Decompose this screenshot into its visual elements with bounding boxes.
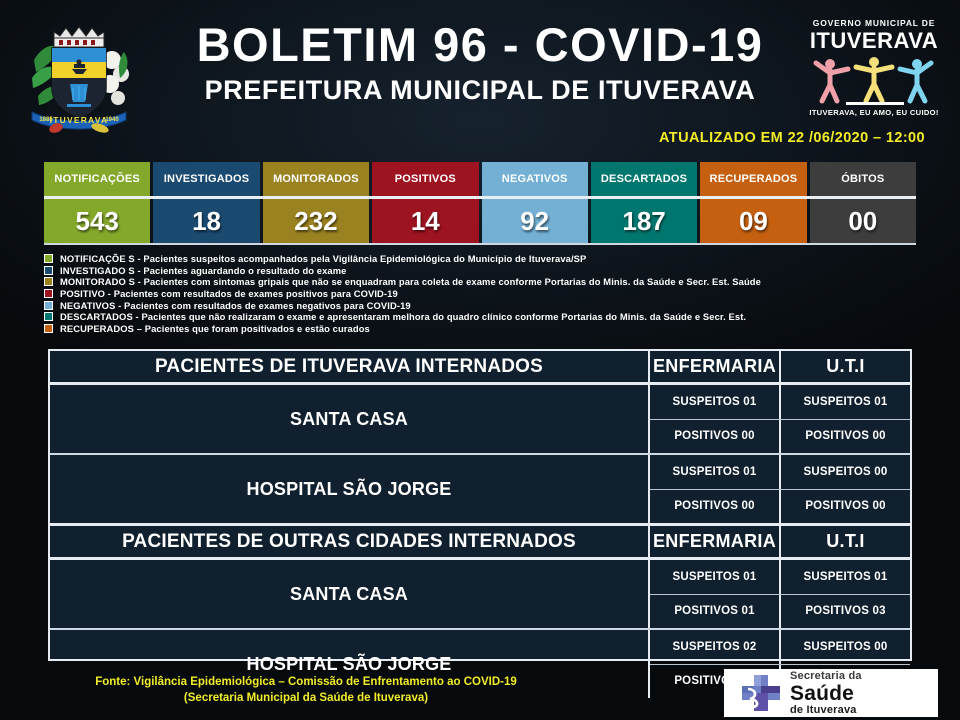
stat-header-4: NEGATIVOS	[482, 162, 588, 196]
title-block: BOLETIM 96 - COVID-19 PREFEITURA MUNICIP…	[150, 18, 810, 106]
cell-enfermaria: POSITIVOS 01	[650, 595, 781, 629]
cell-enfermaria: POSITIVOS 00	[650, 490, 781, 524]
legend-term: POSITIVO	[60, 288, 105, 299]
cell-uti: POSITIVOS 00	[781, 420, 910, 454]
col-header-enfermaria: ENFERMARIA	[650, 351, 781, 382]
statistics-header-row: NOTIFICAÇÕESINVESTIGADOSMONITORADOSPOSIT…	[44, 162, 916, 196]
stat-value-3: 14	[372, 199, 478, 243]
col-header-enfermaria: ENFERMARIA	[650, 526, 781, 557]
legend-term: NEGATIVOS	[60, 300, 115, 311]
legend-swatch-icon	[44, 324, 53, 333]
stat-value-number: 543	[75, 206, 118, 237]
hospital-subrow: POSITIVOS 01POSITIVOS 03	[650, 595, 910, 629]
gov-logo-line2: ITUVERAVA	[804, 29, 944, 53]
statistics-panel: NOTIFICAÇÕESINVESTIGADOSMONITORADOSPOSIT…	[44, 162, 916, 243]
hospital-subrow: SUSPEITOS 01SUSPEITOS 00	[650, 455, 910, 490]
legend-description: - Pacientes com resultados de exames neg…	[115, 300, 410, 311]
stat-header-label: RECUPERADOS	[710, 173, 798, 185]
stat-header-label: INVESTIGADOS	[164, 173, 250, 185]
legend-swatch-icon	[44, 277, 53, 286]
hospital-name: SANTA CASA	[290, 584, 408, 605]
section-title: PACIENTES DE OUTRAS CIDADES INTERNADOS	[122, 531, 576, 553]
cell-uti: POSITIVOS 03	[781, 595, 910, 629]
stat-header-5: DESCARTADOS	[591, 162, 697, 196]
col-header-uti: U.T.I	[781, 351, 910, 382]
source-note: Fonte: Vigilância Epidemiológica – Comis…	[46, 674, 566, 706]
stat-value-number: 232	[294, 206, 337, 237]
cell-enfermaria: SUSPEITOS 01	[650, 455, 781, 489]
col-header-uti-label: U.T.I	[826, 531, 865, 552]
stat-value-number: 18	[192, 206, 221, 237]
legend-description: - Pacientes com sintomas gripais que não…	[135, 276, 761, 287]
stat-header-label: NEGATIVOS	[502, 173, 568, 185]
stat-value-6: 09	[700, 199, 806, 243]
statistics-bottom-rule	[44, 243, 916, 245]
saude-logo-line3: de Ituverava	[790, 705, 862, 716]
legend-text: POSITIVO - Pacientes com resultados de e…	[60, 288, 398, 299]
legend-text: NEGATIVOS - Pacientes com resultados de …	[60, 300, 411, 311]
stat-value-0: 543	[44, 199, 150, 243]
stat-value-number: 14	[411, 206, 440, 237]
stat-value-4: 92	[482, 199, 588, 243]
legend-text: RECUPERADOS – Pacientes que foram positi…	[60, 323, 370, 334]
stat-header-label: NOTIFICAÇÕES	[54, 173, 140, 185]
legend-swatch-icon	[44, 301, 53, 310]
table-row: HOSPITAL SÃO JORGESUSPEITOS 01SUSPEITOS …	[50, 455, 910, 526]
hospital-name-cell: SANTA CASA	[50, 385, 650, 453]
stat-value-number: 187	[622, 206, 665, 237]
stat-header-2: MONITORADOS	[263, 162, 369, 196]
col-header-uti-label: U.T.I	[826, 356, 865, 377]
header: ITUVERAVA 1885 1940 BOLETIM 96 - COVID-1…	[0, 0, 960, 152]
legend-description: – Pacientes que foram positivados e estã…	[134, 323, 370, 334]
legend-text: DESCARTADOS - Pacientes que não realizar…	[60, 311, 746, 322]
hospital-name: SANTA CASA	[290, 409, 408, 430]
legend-item: DESCARTADOS - Pacientes que não realizar…	[44, 311, 944, 323]
hospital-subrow: SUSPEITOS 02SUSPEITOS 00	[650, 630, 910, 665]
legend-item: NEGATIVOS - Pacientes com resultados de …	[44, 299, 944, 311]
hospital-name-cell: HOSPITAL SÃO JORGE	[50, 455, 650, 523]
legend-item: MONITORADO S - Pacientes com sintomas gr…	[44, 276, 944, 288]
cell-uti: SUSPEITOS 01	[781, 560, 910, 594]
government-logo: GOVERNO MUNICIPAL DE ITUVERAVA	[804, 18, 944, 124]
stat-header-3: POSITIVOS	[372, 162, 478, 196]
stat-value-2: 232	[263, 199, 369, 243]
cell-uti: SUSPEITOS 01	[781, 385, 910, 419]
col-header-uti: U.T.I	[781, 526, 910, 557]
legend-term: INVESTIGADO S	[60, 265, 135, 276]
stat-header-0: NOTIFICAÇÕES	[44, 162, 150, 196]
hospital-table: PACIENTES DE ITUVERAVA INTERNADOSENFERMA…	[48, 349, 912, 661]
cell-enfermaria: SUSPEITOS 01	[650, 560, 781, 594]
hospital-name-cell: SANTA CASA	[50, 560, 650, 628]
stat-header-label: DESCARTADOS	[601, 173, 687, 185]
saude-logo: Secretaria da Saúde de Ituverava	[724, 669, 938, 717]
stat-header-7: ÓBITOS	[810, 162, 916, 196]
stat-header-label: ÓBITOS	[841, 173, 884, 185]
legend-item: POSITIVO - Pacientes com resultados de e…	[44, 288, 944, 300]
col-header-enfermaria-label: ENFERMARIA	[653, 531, 776, 552]
cell-enfermaria: SUSPEITOS 01	[650, 385, 781, 419]
saude-logo-line1: Secretaria da	[790, 671, 862, 682]
legend: NOTIFICAÇÕE S - Pacientes suspeitos acom…	[44, 253, 944, 334]
stat-value-number: 09	[739, 206, 768, 237]
legend-description: - Pacientes com resultados de exames pos…	[105, 288, 398, 299]
legend-swatch-icon	[44, 312, 53, 321]
source-note-line2: (Secretaria Municipal da Saúde de Ituver…	[46, 690, 566, 706]
covid-bulletin-page: ITUVERAVA 1885 1940 BOLETIM 96 - COVID-1…	[0, 0, 960, 720]
coat-of-arms-icon: ITUVERAVA 1885 1940	[20, 16, 138, 138]
legend-description: - Pacientes suspeitos acompanhados pela …	[135, 253, 587, 264]
table-section-header: PACIENTES DE ITUVERAVA INTERNADOSENFERMA…	[50, 351, 910, 385]
table-section-header: PACIENTES DE OUTRAS CIDADES INTERNADOSEN…	[50, 526, 910, 560]
legend-term: MONITORADO S	[60, 276, 135, 287]
saude-logo-text: Secretaria da Saúde de Ituverava	[790, 671, 862, 716]
hospital-subrow: POSITIVOS 00POSITIVOS 00	[650, 490, 910, 524]
hospital-subrow: POSITIVOS 00POSITIVOS 00	[650, 420, 910, 454]
cell-enfermaria: POSITIVOS 00	[650, 420, 781, 454]
section-title-cell: PACIENTES DE OUTRAS CIDADES INTERNADOS	[50, 526, 650, 557]
table-row: SANTA CASASUSPEITOS 01SUSPEITOS 01POSITI…	[50, 385, 910, 455]
stat-value-number: 92	[520, 206, 549, 237]
legend-text: NOTIFICAÇÕE S - Pacientes suspeitos acom…	[60, 253, 586, 264]
hospital-values: SUSPEITOS 01SUSPEITOS 00POSITIVOS 00POSI…	[650, 455, 910, 523]
gov-logo-slogan: ITUVERAVA, EU AMO, EU CUIDO!	[804, 108, 944, 118]
stat-value-7: 00	[810, 199, 916, 243]
hospital-name: HOSPITAL SÃO JORGE	[247, 479, 452, 500]
table-row: SANTA CASASUSPEITOS 01SUSPEITOS 01POSITI…	[50, 560, 910, 630]
legend-term: RECUPERADOS	[60, 323, 134, 334]
cell-uti: SUSPEITOS 00	[781, 630, 910, 664]
page-subtitle: PREFEITURA MUNICIPAL DE ITUVERAVA	[150, 74, 810, 106]
source-note-line1: Fonte: Vigilância Epidemiológica – Comis…	[46, 674, 566, 690]
statistics-value-row: 5431823214921870900	[44, 199, 916, 243]
legend-item: RECUPERADOS – Pacientes que foram positi…	[44, 323, 944, 335]
hospital-subrow: SUSPEITOS 01SUSPEITOS 01	[650, 385, 910, 420]
legend-term: DESCARTADOS	[60, 311, 133, 322]
section-title-cell: PACIENTES DE ITUVERAVA INTERNADOS	[50, 351, 650, 382]
stat-value-1: 18	[153, 199, 259, 243]
hospital-subrow: SUSPEITOS 01SUSPEITOS 01	[650, 560, 910, 595]
health-cross-icon	[740, 673, 782, 713]
cell-uti: SUSPEITOS 00	[781, 455, 910, 489]
stat-value-number: 00	[848, 206, 877, 237]
legend-swatch-icon	[44, 254, 53, 263]
cell-uti: POSITIVOS 00	[781, 490, 910, 524]
stat-header-label: POSITIVOS	[395, 173, 456, 185]
svg-text:1940: 1940	[105, 117, 119, 123]
legend-description: - Pacientes aguardando o resultado do ex…	[135, 265, 347, 276]
updated-timestamp: ATUALIZADO EM 22 /06/2020 – 12:00	[659, 130, 925, 146]
legend-swatch-icon	[44, 289, 53, 298]
legend-text: MONITORADO S - Pacientes com sintomas gr…	[60, 276, 761, 287]
stat-header-label: MONITORADOS	[273, 173, 359, 185]
section-title: PACIENTES DE ITUVERAVA INTERNADOS	[155, 356, 543, 378]
hospital-values: SUSPEITOS 01SUSPEITOS 01POSITIVOS 00POSI…	[650, 385, 910, 453]
legend-swatch-icon	[44, 266, 53, 275]
hospital-values: SUSPEITOS 01SUSPEITOS 01POSITIVOS 01POSI…	[650, 560, 910, 628]
cell-enfermaria: SUSPEITOS 02	[650, 630, 781, 664]
legend-term: NOTIFICAÇÕE S	[60, 253, 135, 264]
stat-header-6: RECUPERADOS	[700, 162, 806, 196]
page-title: BOLETIM 96 - COVID-19	[150, 18, 810, 72]
legend-item: INVESTIGADO S - Pacientes aguardando o r…	[44, 265, 944, 277]
stat-value-5: 187	[591, 199, 697, 243]
legend-item: NOTIFICAÇÕE S - Pacientes suspeitos acom…	[44, 253, 944, 265]
legend-text: INVESTIGADO S - Pacientes aguardando o r…	[60, 265, 347, 276]
saude-logo-line2: Saúde	[790, 683, 862, 704]
footer: Fonte: Vigilância Epidemiológica – Comis…	[0, 666, 960, 720]
legend-description: - Pacientes que não realizaram o exame e…	[133, 311, 746, 322]
col-header-enfermaria-label: ENFERMARIA	[653, 356, 776, 377]
svg-text:1885: 1885	[39, 117, 53, 123]
stat-header-1: INVESTIGADOS	[153, 162, 259, 196]
gov-logo-figures-icon	[804, 55, 944, 107]
